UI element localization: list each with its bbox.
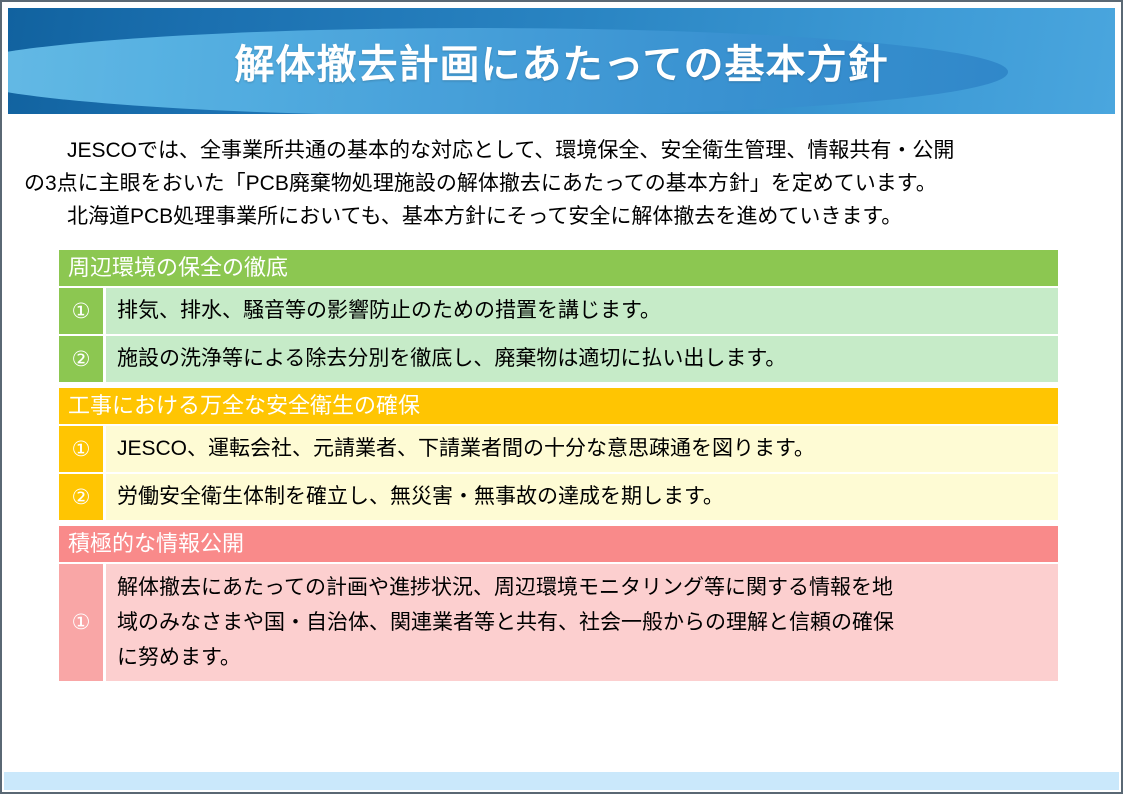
page-title: 解体撤去計画にあたっての基本方針	[8, 8, 1115, 114]
row-text: 労働安全衛生体制を確立し、無災害・無事故の達成を期します。	[106, 474, 1058, 520]
slide-canvas: 解体撤去計画にあたっての基本方針 JESCOでは、全事業所共通の基本的な対応とし…	[0, 0, 1123, 794]
row-text-line: 施設の洗浄等による除去分別を徹底し、廃棄物は適切に払い出します。	[117, 342, 1048, 376]
intro-line-2: の3点に主眼をおいた「PCB廃棄物処理施設の解体撤去にあたっての基本方針」を定め…	[24, 167, 1104, 200]
policy-block-header: 周辺環境の保全の徹底	[59, 250, 1058, 286]
footer-band	[4, 772, 1119, 790]
policy-block-header: 工事における万全な安全衛生の確保	[59, 388, 1058, 424]
table-row: ② 労働安全衛生体制を確立し、無災害・無事故の達成を期します。	[59, 474, 1058, 520]
row-text-line: 労働安全衛生体制を確立し、無災害・無事故の達成を期します。	[117, 480, 1048, 514]
row-text-line: に努めます。	[117, 640, 1048, 675]
table-row: ① JESCO、運転会社、元請業者、下請業者間の十分な意思疎通を図ります。	[59, 426, 1058, 472]
row-text-line: 解体撤去にあたっての計画や進捗状況、周辺環境モニタリング等に関する情報を地	[117, 570, 1048, 605]
row-text-line: JESCO、運転会社、元請業者、下請業者間の十分な意思疎通を図ります。	[117, 432, 1048, 466]
policy-block-header: 積極的な情報公開	[59, 526, 1058, 562]
table-row: ① 解体撤去にあたっての計画や進捗状況、周辺環境モニタリング等に関する情報を地 …	[59, 564, 1058, 681]
row-text: 排気、排水、騒音等の影響防止のための措置を講じます。	[106, 288, 1058, 334]
row-text: JESCO、運転会社、元請業者、下請業者間の十分な意思疎通を図ります。	[106, 426, 1058, 472]
row-number: ②	[59, 474, 103, 520]
table-row: ① 排気、排水、騒音等の影響防止のための措置を講じます。	[59, 288, 1058, 334]
row-number: ②	[59, 336, 103, 382]
row-text: 解体撤去にあたっての計画や進捗状況、周辺環境モニタリング等に関する情報を地 域の…	[106, 564, 1058, 681]
policy-blocks: 周辺環境の保全の徹底 ① 排気、排水、騒音等の影響防止のための措置を講じます。 …	[59, 250, 1058, 687]
intro-line-3: 北海道PCB処理事業所においても、基本方針にそって安全に解体撤去を進めていきます…	[24, 200, 1104, 233]
intro-line-1: JESCOでは、全事業所共通の基本的な対応として、環境保全、安全衛生管理、情報共…	[24, 134, 1104, 167]
row-text: 施設の洗浄等による除去分別を徹底し、廃棄物は適切に払い出します。	[106, 336, 1058, 382]
policy-block-environment: 周辺環境の保全の徹底 ① 排気、排水、騒音等の影響防止のための措置を講じます。 …	[59, 250, 1058, 382]
row-number: ①	[59, 288, 103, 334]
row-number: ①	[59, 426, 103, 472]
row-text-line: 排気、排水、騒音等の影響防止のための措置を講じます。	[117, 294, 1048, 328]
row-number: ①	[59, 564, 103, 681]
row-text-line: 域のみなさまや国・自治体、関連業者等と共有、社会一般からの理解と信頼の確保	[117, 605, 1048, 640]
policy-block-safety: 工事における万全な安全衛生の確保 ① JESCO、運転会社、元請業者、下請業者間…	[59, 388, 1058, 520]
intro-paragraph: JESCOでは、全事業所共通の基本的な対応として、環境保全、安全衛生管理、情報共…	[24, 134, 1104, 233]
title-banner: 解体撤去計画にあたっての基本方針	[8, 8, 1115, 114]
table-row: ② 施設の洗浄等による除去分別を徹底し、廃棄物は適切に払い出します。	[59, 336, 1058, 382]
policy-block-disclosure: 積極的な情報公開 ① 解体撤去にあたっての計画や進捗状況、周辺環境モニタリング等…	[59, 526, 1058, 681]
